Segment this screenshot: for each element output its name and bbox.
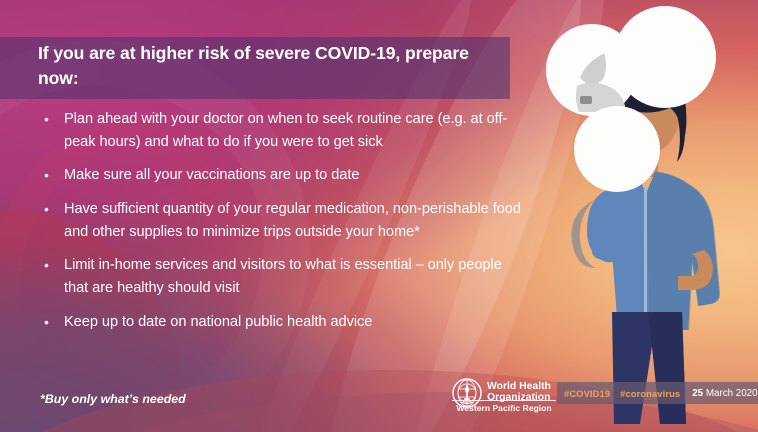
who-logo-region: Western Pacific Region	[452, 400, 556, 413]
bullet-marker-icon: •	[38, 311, 64, 334]
list-item-label: Limit in-home services and visitors to w…	[64, 254, 526, 299]
date-label: 25 March 2020	[692, 388, 757, 399]
footnote: *Buy only what’s needed	[40, 392, 186, 406]
list-item: • Plan ahead with your doctor on when to…	[38, 108, 526, 153]
date-rest: March 2020	[703, 388, 757, 399]
list-item-label: Make sure all your vaccinations are up t…	[64, 164, 526, 187]
bullet-marker-icon: •	[38, 198, 64, 243]
hashtag-covid19[interactable]: #COVID19	[564, 388, 610, 399]
infographic-slide: If you are at higher risk of severe COVI…	[0, 0, 758, 432]
bullet-marker-icon: •	[38, 254, 64, 299]
list-item: • Limit in-home services and visitors to…	[38, 254, 526, 299]
date-day: 25	[692, 388, 703, 399]
hashtag-bar: #COVID19 #coronavirus 25 March 2020	[557, 382, 758, 404]
bullet-marker-icon: •	[38, 108, 64, 153]
bullet-list: • Plan ahead with your doctor on when to…	[38, 108, 526, 345]
list-item-label: Have sufficient quantity of your regular…	[64, 198, 526, 243]
page-title: If you are at higher risk of severe COVI…	[38, 41, 500, 91]
person-on-phone-illustration	[528, 0, 758, 432]
bullet-marker-icon: •	[38, 164, 64, 187]
list-item: • Have sufficient quantity of your regul…	[38, 198, 526, 243]
list-item: • Make sure all your vaccinations are up…	[38, 164, 526, 187]
list-item: • Keep up to date on national public hea…	[38, 311, 526, 334]
hashtag-coronavirus[interactable]: #coronavirus	[620, 388, 680, 399]
list-item-label: Plan ahead with your doctor on when to s…	[64, 108, 526, 153]
list-item-label: Keep up to date on national public healt…	[64, 311, 526, 334]
